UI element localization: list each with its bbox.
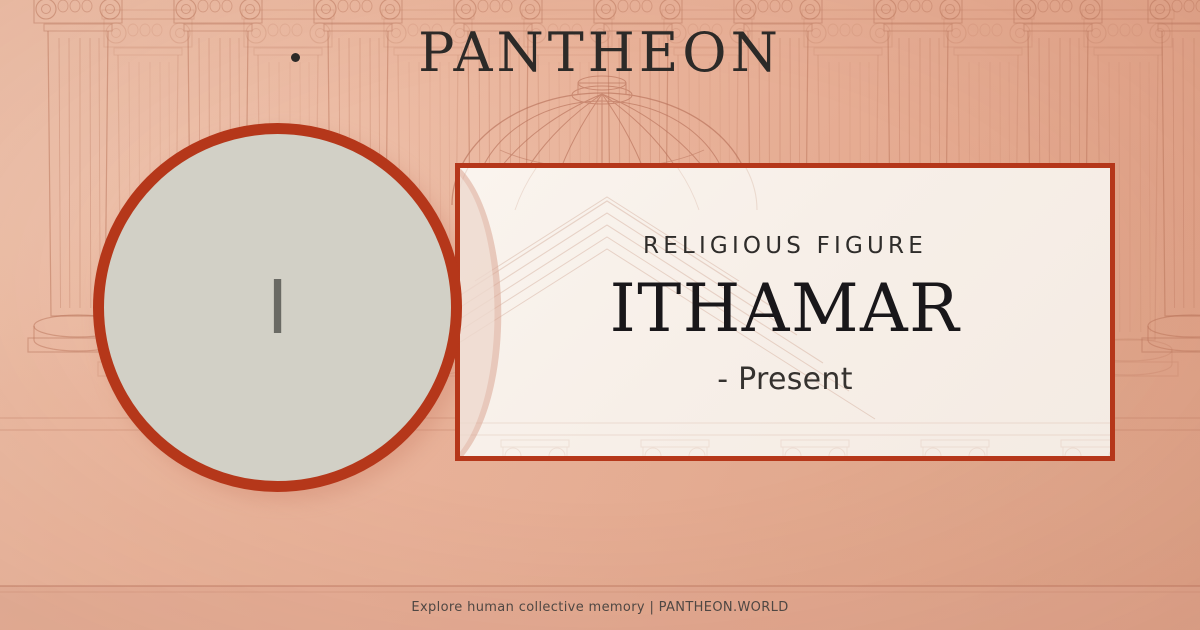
footer: Explore human collective memory | PANTHE… xyxy=(0,585,1200,630)
occupation-label: RELIGIOUS FIGURE xyxy=(643,233,927,259)
footer-text[interactable]: Explore human collective memory | PANTHE… xyxy=(411,600,788,615)
logo-dot-icon xyxy=(291,53,300,62)
lifespan-label: - Present xyxy=(717,362,853,397)
person-name: ITHAMAR xyxy=(610,276,961,342)
avatar[interactable]: I xyxy=(93,123,462,492)
avatar-initial: I xyxy=(267,271,289,345)
brand-logo[interactable]: PANTHEON xyxy=(0,26,1200,80)
brand-logo-text: PANTHEON xyxy=(418,26,782,80)
person-card: RELIGIOUS FIGURE ITHAMAR - Present xyxy=(455,163,1115,461)
pantheon-share-card: PANTHEON xyxy=(0,0,1200,630)
